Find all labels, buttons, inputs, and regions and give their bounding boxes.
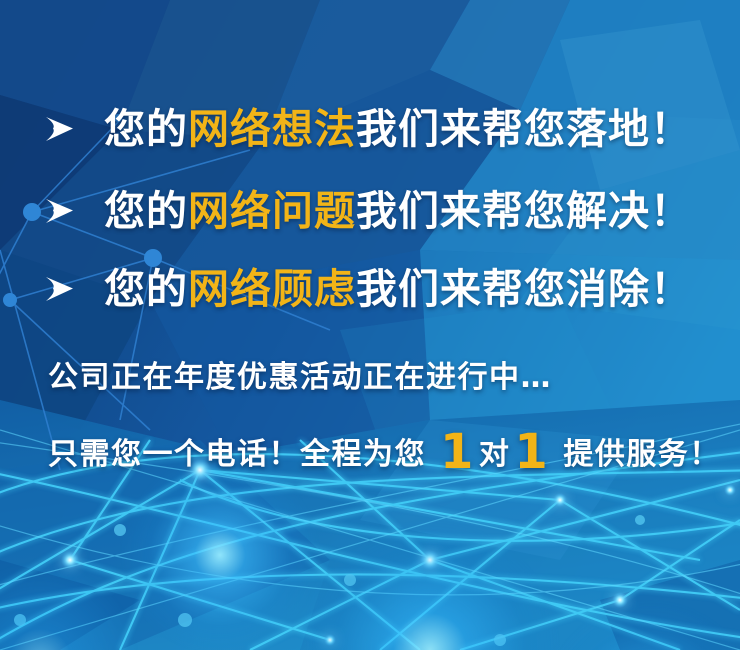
service-prefix: 只需您一个电话！全程为您	[48, 437, 426, 472]
headline-2: 您的网络问题我们来帮您解决！	[104, 185, 692, 237]
banner-content: 您的网络想法我们来帮您落地！ 您的网络问题我们来帮您解决！ 您的网络顾虑我们来帮…	[0, 0, 740, 650]
service-number-2: 1	[510, 424, 553, 480]
service-suffix: 提供服务！	[563, 437, 721, 472]
arrow-right-icon	[44, 116, 74, 142]
bullet-line-3: 您的网络顾虑我们来帮您消除！	[44, 263, 692, 315]
headline-2-prefix: 您的	[104, 187, 188, 235]
headline-3: 您的网络顾虑我们来帮您消除！	[104, 263, 692, 315]
headline-3-highlight: 网络顾虑	[188, 265, 356, 313]
headline-3-prefix: 您的	[104, 265, 188, 313]
headline-1-prefix: 您的	[104, 105, 188, 153]
headline-1-suffix: 我们来帮您落地！	[356, 105, 692, 153]
headline-1-highlight: 网络想法	[188, 105, 356, 153]
headline-3-suffix: 我们来帮您消除！	[356, 265, 692, 313]
arrow-right-icon	[44, 198, 74, 224]
arrow-right-icon	[44, 276, 74, 302]
service-middle: 对	[479, 437, 511, 472]
service-line: 只需您一个电话！全程为您1对1提供服务！	[48, 428, 721, 476]
headline-2-highlight: 网络问题	[188, 187, 356, 235]
promo-line: 公司正在年度优惠活动正在进行中…	[48, 358, 552, 398]
headline-2-suffix: 我们来帮您解决！	[356, 187, 692, 235]
service-number-1: 1	[436, 424, 479, 480]
bullet-line-2: 您的网络问题我们来帮您解决！	[44, 185, 692, 237]
headline-1: 您的网络想法我们来帮您落地！	[104, 103, 692, 155]
promo-banner: 您的网络想法我们来帮您落地！ 您的网络问题我们来帮您解决！ 您的网络顾虑我们来帮…	[0, 0, 740, 650]
bullet-line-1: 您的网络想法我们来帮您落地！	[44, 103, 692, 155]
